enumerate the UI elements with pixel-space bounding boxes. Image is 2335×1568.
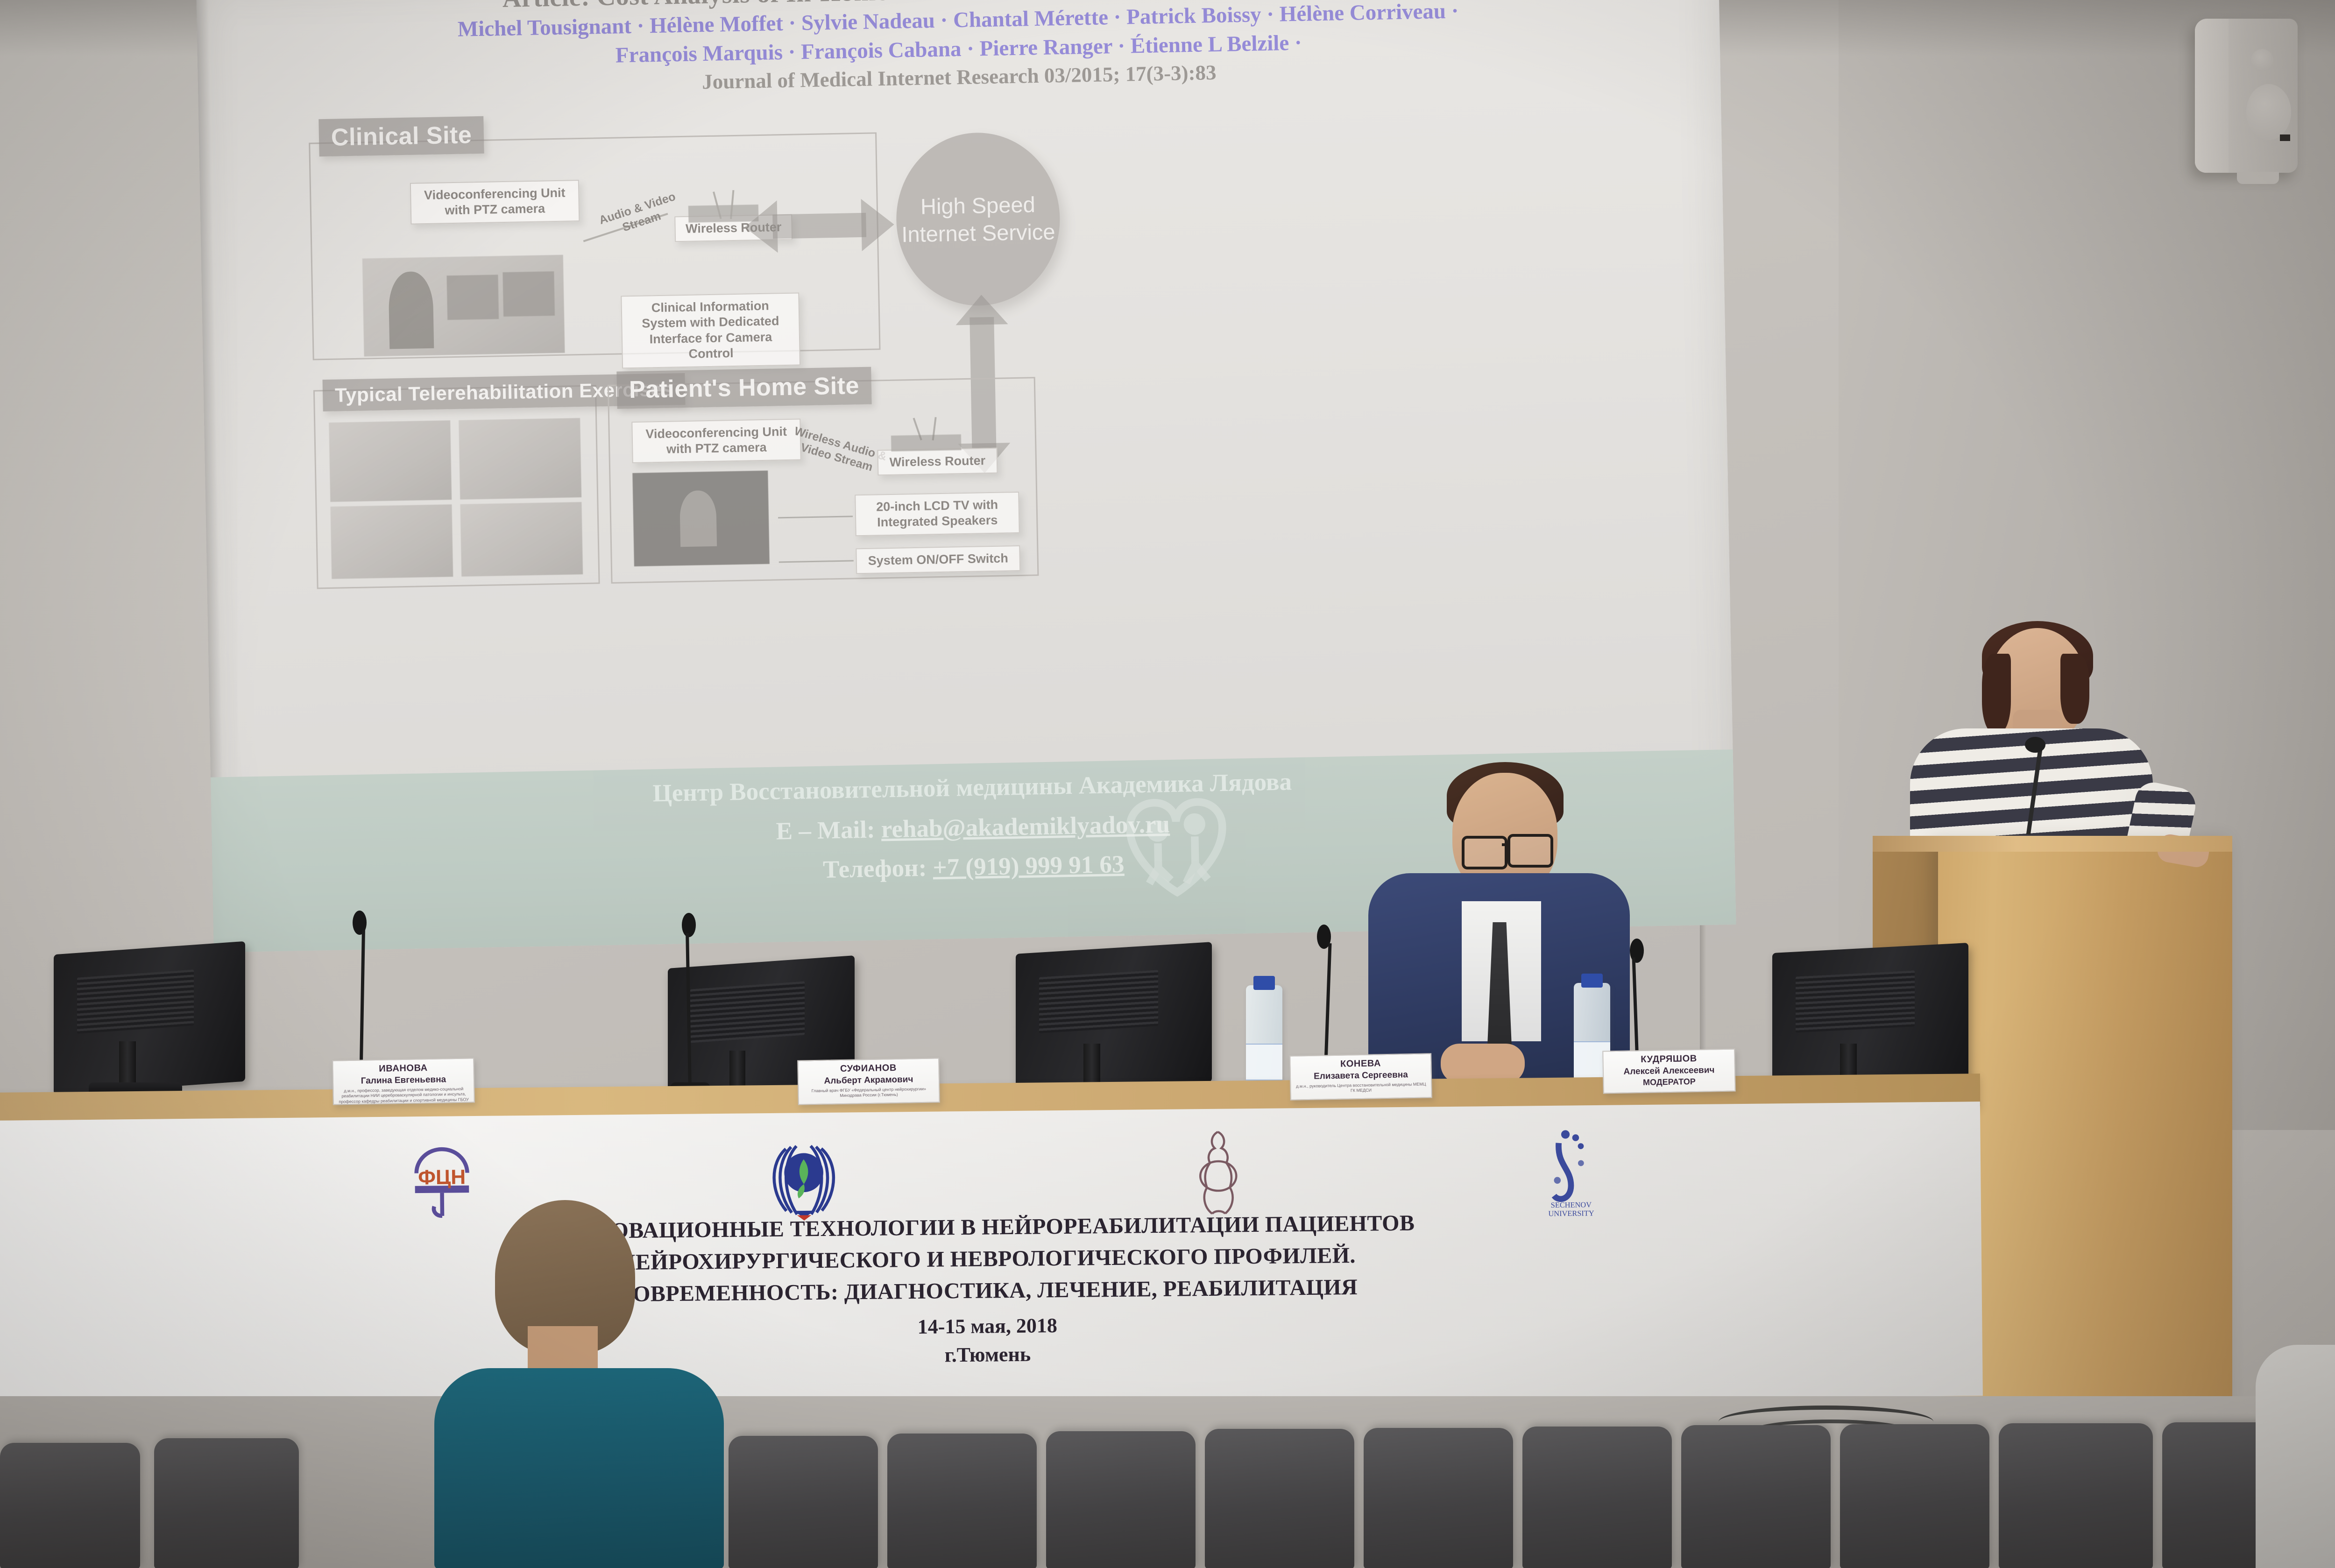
sechenov-university-logo-icon: SECHENOV UNIVERSITY xyxy=(1527,1124,1614,1218)
figure-outline-logo-icon xyxy=(1177,1125,1259,1219)
nameplate-1-firstname: Галина Евгеньевна xyxy=(333,1074,474,1087)
speaker-woofer xyxy=(2246,84,2291,140)
nameplate-4-role: МОДЕРАТОР xyxy=(1604,1076,1734,1088)
nameplate-2-surname: СУФИАНОВ xyxy=(798,1062,938,1075)
clinical-site-header: Clinical Site xyxy=(318,116,484,156)
clinician-monitor-2 xyxy=(502,271,555,317)
phone-value: +7 (919) 999 91 63 xyxy=(933,851,1125,882)
nameplate-3-surname: КОНЕВА xyxy=(1290,1057,1430,1070)
monitor-1-vent xyxy=(77,969,194,1033)
audience-chair-3 xyxy=(729,1436,878,1568)
home-vcu-line1: Videoconferencing Unit xyxy=(639,424,793,443)
audience-member-teal-shirt xyxy=(434,1368,724,1568)
nameplate-2-firstname: Альберт Акрамович xyxy=(799,1074,939,1087)
audience-chair-7 xyxy=(1364,1428,1513,1568)
home-tv-label: 20-inch LCD TV with Integrated Speakers xyxy=(855,492,1020,536)
audience-chair-2 xyxy=(154,1438,299,1568)
nameplate-koneva: КОНЕВА Елизавета Сергеевна д.м.н., руков… xyxy=(1289,1053,1432,1100)
conference-hall-photo: Article: Cost Analysis of In-Home Telere… xyxy=(0,0,2335,1568)
audience-member-right xyxy=(2256,1345,2335,1568)
exercise-photo-3 xyxy=(330,504,453,579)
home-switch-label: System ON/OFF Switch xyxy=(856,545,1020,574)
clinician-silhouette xyxy=(388,271,434,349)
nameplate-sufianov: СУФИАНОВ Альберт Акрамович Главный врач … xyxy=(797,1058,940,1105)
speaker-hair-right xyxy=(2060,654,2089,724)
nameplate-ivanova: ИВАНОВА Галина Евгеньевна д.м.н., профес… xyxy=(332,1058,475,1105)
phone-label: Телефон: xyxy=(823,855,927,883)
clinician-monitor-1 xyxy=(446,275,499,320)
audience-chair-1 xyxy=(0,1443,140,1568)
rehab-center-logo-icon xyxy=(1098,768,1255,925)
nameplate-3-firstname: Елизавета Сергеевна xyxy=(1291,1069,1431,1082)
patient-silhouette xyxy=(679,490,717,547)
clinical-vcu-line1: Videoconferencing Unit xyxy=(417,185,572,204)
nameplate-kudryashov: КУДРЯШОВ Алексей Алексеевич МОДЕРАТОР xyxy=(1602,1049,1736,1094)
home-vcu-label: Videoconferencing Unit with PTZ camera xyxy=(631,418,801,463)
nameplate-4-surname: КУДРЯШОВ xyxy=(1603,1053,1734,1066)
telerehabilitation-diagram: Clinical Site Videoconferencing Unit wit… xyxy=(304,106,1295,698)
nameplate-4-firstname: Алексей Алексеевич xyxy=(1604,1065,1734,1078)
wall-speaker-icon xyxy=(2195,19,2298,173)
exercise-photo-1 xyxy=(329,420,452,502)
speaker-led xyxy=(2280,134,2290,141)
audience-chair-9 xyxy=(1681,1425,1831,1568)
slide-header: Article: Cost Analysis of In-Home Telere… xyxy=(196,0,1720,103)
speaker-tweeter xyxy=(2251,49,2273,71)
lectern xyxy=(1938,841,2232,1415)
monitor-4-vent xyxy=(1796,970,1915,1032)
speaker-side xyxy=(2195,19,2229,173)
internet-arrow-head-right xyxy=(861,198,895,251)
banner-title-block: ИННОВАЦИОННЫЕ ТЕХНОЛОГИИ В НЕЙРОРЕАБИЛИТ… xyxy=(0,1202,1982,1376)
router-body-home xyxy=(891,434,962,452)
glasses-right-lens-icon xyxy=(1507,834,1553,868)
home-router-label: Wireless Router xyxy=(877,448,998,476)
home-tv-line2: Integrated Speakers xyxy=(863,513,1012,531)
nameplate-2-details: Главный врач ФГБУ «Федеральный центр ней… xyxy=(799,1086,939,1099)
audience-chair-10 xyxy=(1840,1424,1989,1568)
panelist-hand xyxy=(1441,1044,1525,1083)
nameplate-3-details: д.м.н., руководитель Центра восстановите… xyxy=(1291,1081,1431,1095)
cis-line3: Interface for Camera xyxy=(629,329,793,348)
clinical-vcu-line2: with PTZ camera xyxy=(418,201,573,219)
speaker-mount xyxy=(2237,172,2279,184)
audience-chair-5 xyxy=(1046,1431,1196,1568)
podium-top-surface xyxy=(1873,836,2232,852)
audience-chair-8 xyxy=(1522,1427,1672,1568)
vertical-arrow-head-up xyxy=(955,294,1008,325)
audience-chair-4 xyxy=(887,1434,1037,1568)
exercise-photo-2 xyxy=(459,418,581,500)
water-bottle-2-cap xyxy=(1581,974,1603,988)
water-bottle-1-label xyxy=(1246,1044,1282,1081)
audience-chair-6 xyxy=(1205,1429,1354,1568)
fcn-logo-icon: ФЦН xyxy=(402,1139,482,1220)
monitor-3-vent xyxy=(1039,970,1158,1033)
internet-arrow-bar xyxy=(772,213,866,239)
cis-line4: Control xyxy=(629,345,793,363)
water-bottle-1-cap xyxy=(1253,976,1275,990)
speaker-hair-left xyxy=(1982,654,2011,733)
audience-chair-11 xyxy=(1999,1423,2153,1568)
nameplate-1-details: д.м.н., профессор, заведующая отделом ме… xyxy=(333,1086,474,1105)
un-wreath-logo-icon xyxy=(759,1131,849,1223)
head-table-banner-front: ФЦН xyxy=(0,1102,1983,1415)
nameplate-1-surname: ИВАНОВА xyxy=(333,1062,473,1075)
home-vcu-line2: with PTZ camera xyxy=(639,439,794,458)
high-speed-internet-ellipse: High Speed Internet Service xyxy=(895,131,1061,307)
exercise-photo-4 xyxy=(460,502,583,577)
glasses-bridge-icon xyxy=(1502,843,1508,846)
svg-text:ФЦН: ФЦН xyxy=(418,1165,466,1189)
patient-home-header: Patient's Home Site xyxy=(616,367,871,409)
email-label: E – Mail: xyxy=(776,816,875,845)
glasses-left-lens-icon xyxy=(1462,836,1507,869)
internet-arrow-head-left xyxy=(744,200,778,253)
clinical-vcu-label: Videoconferencing Unit with PTZ camera xyxy=(410,180,580,225)
monitor-2-vent xyxy=(690,981,805,1043)
podium-microphone-icon xyxy=(2025,737,2045,753)
clinical-information-system-label: Clinical Information System with Dedicat… xyxy=(621,292,800,368)
